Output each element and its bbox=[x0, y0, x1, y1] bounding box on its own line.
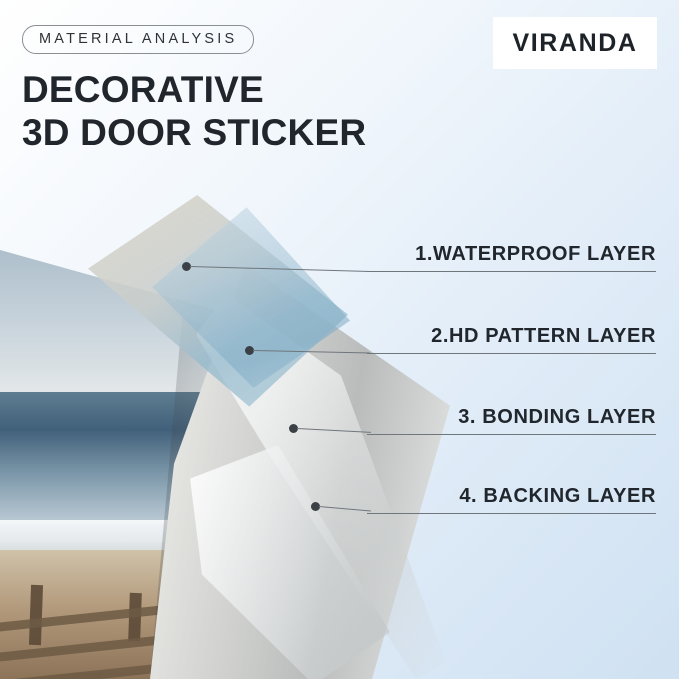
callout-underline-2 bbox=[367, 353, 656, 354]
poster-canvas: MATERIAL ANALYSIS DECORATIVE 3D DOOR STI… bbox=[0, 0, 679, 679]
callout-label-4: 4. BACKING LAYER bbox=[459, 485, 656, 508]
callout-label-3: 3. BONDING LAYER bbox=[458, 406, 656, 429]
callout-underline-1 bbox=[367, 271, 656, 272]
callout-label-1: 1.WATERPROOF LAYER bbox=[415, 243, 656, 266]
callout-label-2: 2.HD PATTERN LAYER bbox=[431, 325, 656, 348]
photo-post bbox=[29, 584, 43, 644]
eyebrow-badge: MATERIAL ANALYSIS bbox=[22, 25, 254, 54]
title-line-1: DECORATIVE bbox=[22, 69, 264, 110]
callout-underline-4 bbox=[367, 513, 656, 514]
callout-underline-3 bbox=[367, 434, 656, 435]
brand-name: VIRANDA bbox=[512, 29, 637, 58]
page-title: DECORATIVE 3D DOOR STICKER bbox=[22, 68, 366, 154]
brand-logo-box: VIRANDA bbox=[493, 17, 657, 69]
title-line-2: 3D DOOR STICKER bbox=[22, 111, 366, 154]
